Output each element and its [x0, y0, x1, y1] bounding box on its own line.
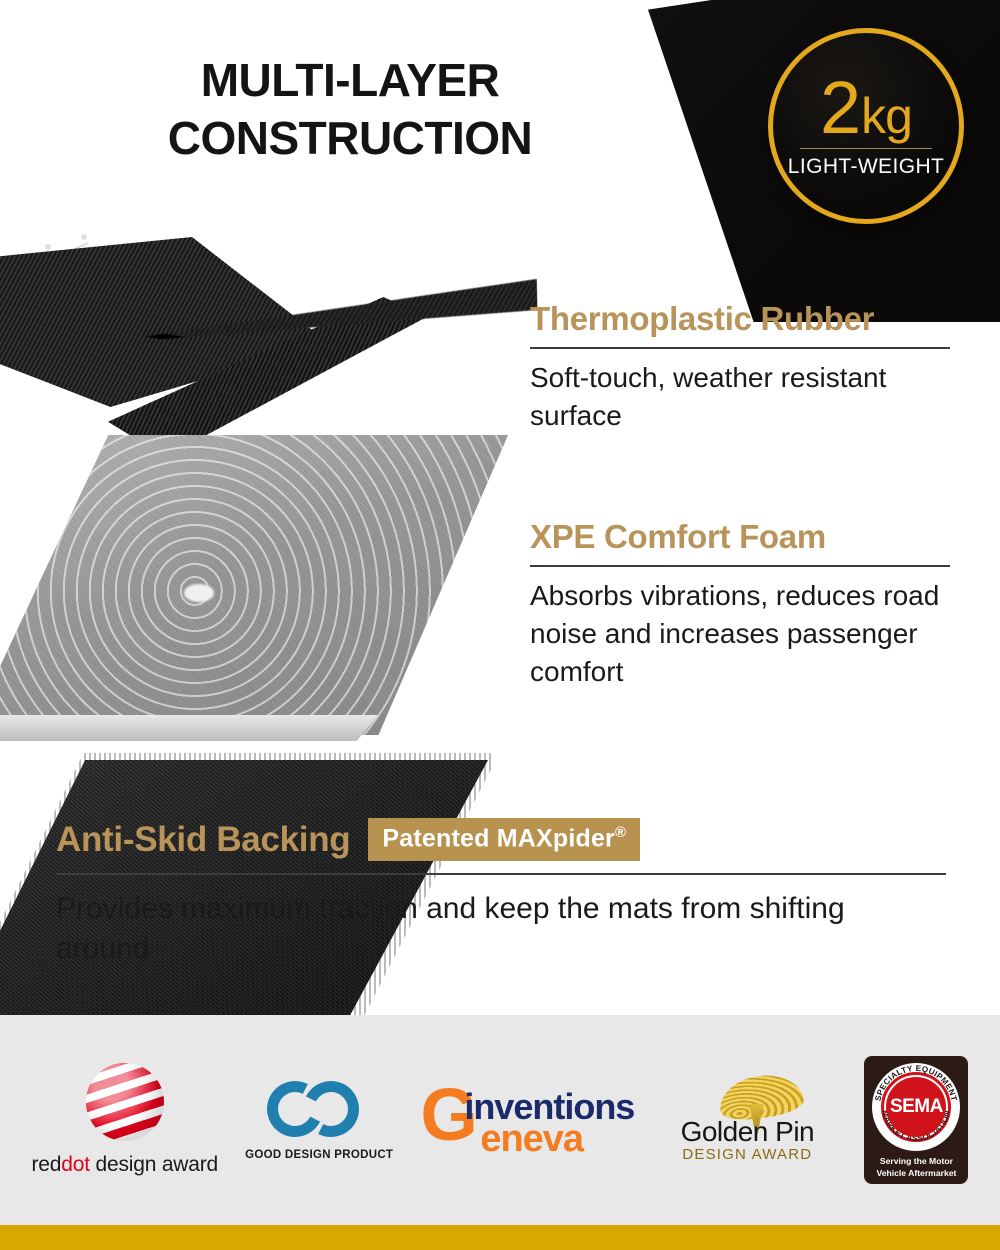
sema-footer-line1: Serving the Motor — [876, 1156, 956, 1168]
weight-badge-number: 2 — [820, 73, 860, 143]
weight-badge-unit: kg — [861, 93, 912, 141]
patented-maxpider-badge: Patented MAXpider® — [368, 818, 640, 861]
anti-skid-divider — [56, 873, 946, 875]
reddot-label-pre: red — [32, 1153, 62, 1176]
anti-skid-heading: Anti-Skid Backing — [56, 820, 350, 860]
geneva-word: eneva — [480, 1118, 583, 1161]
feature-anti-skid-backing: Anti-Skid Backing Patented MAXpider® Pro… — [56, 818, 946, 969]
golden-pin-sublabel: DESIGN AWARD — [657, 1146, 837, 1163]
foam-edge-profile — [0, 715, 508, 741]
feature-thermoplastic-rubber: Thermoplastic Rubber Soft-touch, weather… — [530, 300, 955, 435]
feature-xpe-comfort-foam: XPE Comfort Foam Absorbs vibrations, red… — [530, 518, 955, 691]
product-layers-illustration — [0, 215, 548, 815]
foam-center-hub — [184, 584, 214, 602]
anti-skid-heading-row: Anti-Skid Backing Patented MAXpider® — [56, 818, 946, 861]
feature-heading: Thermoplastic Rubber — [530, 300, 955, 338]
patented-maxpider-label: Patented MAXpider — [382, 824, 615, 852]
award-good-design-product: GOOD DESIGN PRODUCT — [245, 1079, 393, 1161]
anti-skid-body: Provides maximum traction and keep the m… — [56, 889, 946, 969]
reddot-label: reddot design award — [32, 1153, 219, 1177]
sema-logo: SPECIALTY EQUIPMENT MARKET ASSOCIATION S… — [864, 1056, 968, 1184]
good-design-label: GOOD DESIGN PRODUCT — [245, 1149, 393, 1161]
page-title-line2: CONSTRUCTION — [0, 110, 700, 168]
award-inventions-geneva: G inventions eneva — [420, 1082, 630, 1158]
infographic-page: 2 kg LIGHT-WEIGHT MULTI-LAYER CONSTRUCTI… — [0, 0, 1000, 1250]
feature-heading: XPE Comfort Foam — [530, 518, 955, 556]
weight-badge-caption: LIGHT-WEIGHT — [788, 155, 944, 179]
feature-divider — [530, 347, 950, 349]
award-golden-pin: Golden Pin DESIGN AWARD — [657, 1076, 837, 1164]
feature-body: Soft-touch, weather resistant surface — [530, 359, 955, 435]
good-design-gd-icon — [267, 1079, 371, 1139]
feature-divider — [530, 565, 950, 567]
page-title: MULTI-LAYER CONSTRUCTION — [0, 52, 700, 167]
page-title-line1: MULTI-LAYER — [0, 52, 700, 110]
weight-badge-divider — [800, 148, 932, 149]
awards-footer: reddot design award GOOD DESIGN PRODUCT … — [0, 1015, 1000, 1225]
golden-pin-label: Golden Pin — [657, 1116, 837, 1148]
bottom-gold-bar — [0, 1225, 1000, 1250]
sema-footer-line2: Vehicle Aftermarket — [876, 1168, 956, 1180]
feature-body: Absorbs vibrations, reduces road noise a… — [530, 577, 955, 691]
registered-trademark-mark: ® — [615, 824, 626, 841]
reddot-label-post: design award — [90, 1153, 218, 1176]
award-reddot-design-award: reddot design award — [32, 1063, 219, 1177]
inventions-geneva-logo: G inventions eneva — [420, 1082, 630, 1158]
award-sema: SPECIALTY EQUIPMENT MARKET ASSOCIATION S… — [864, 1056, 968, 1184]
sema-footer-text: Serving the Motor Vehicle Aftermarket — [876, 1156, 956, 1179]
reddot-label-accent: dot — [61, 1153, 90, 1176]
weight-badge-value-row: 2 kg — [820, 73, 912, 147]
sema-ring: SPECIALTY EQUIPMENT MARKET ASSOCIATION S… — [872, 1063, 960, 1151]
sema-core-label: SEMA — [886, 1077, 946, 1137]
reddot-sphere-icon — [86, 1063, 164, 1141]
weight-badge: 2 kg LIGHT-WEIGHT — [768, 28, 964, 224]
golden-pin-logo: Golden Pin DESIGN AWARD — [657, 1076, 837, 1164]
